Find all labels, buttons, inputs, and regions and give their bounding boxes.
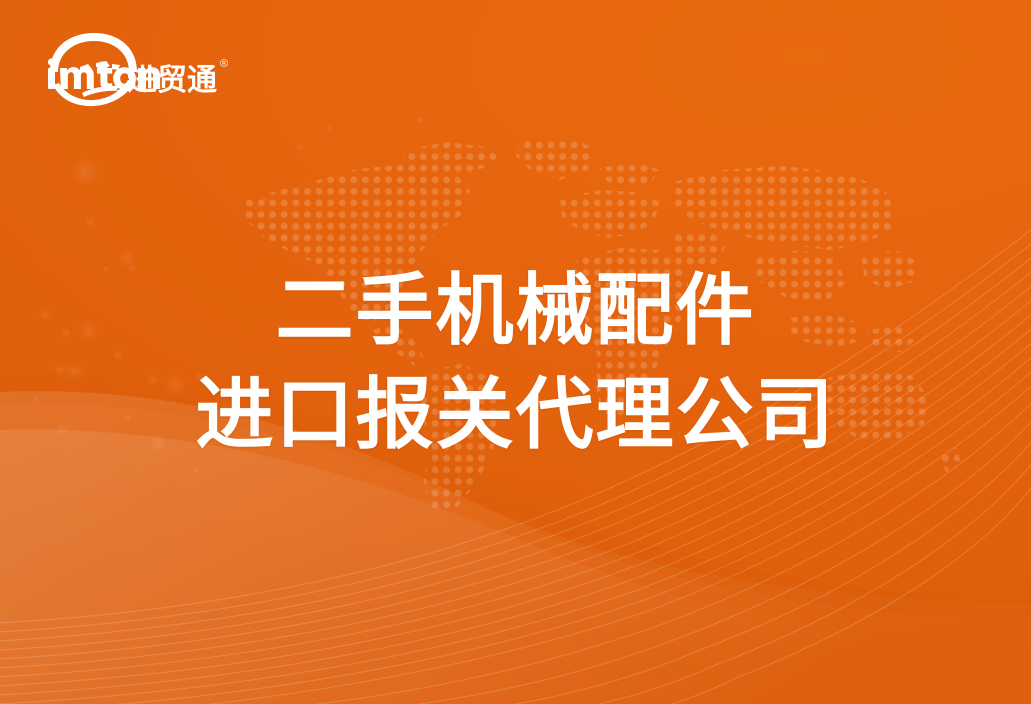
headline-line-2: 进口报关代理公司 xyxy=(0,362,1031,466)
headline-line-1: 二手机械配件 xyxy=(0,258,1031,362)
promo-banner: 进贸通 ® 二手机械配件 进口报关代理公司 xyxy=(0,0,1031,704)
headline-block: 二手机械配件 进口报关代理公司 xyxy=(0,258,1031,466)
company-logo[interactable]: 进贸通 ® xyxy=(36,27,226,107)
logo-trademark-symbol: ® xyxy=(220,59,228,70)
logo-chinese-name: 进贸通 xyxy=(127,65,217,97)
